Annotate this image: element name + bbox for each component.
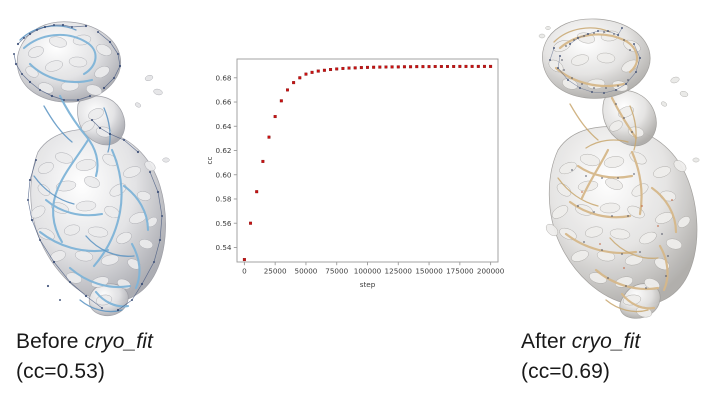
data-point [385, 66, 388, 69]
data-point [372, 66, 375, 69]
cryo-em-density-with-unfitted-model-image [0, 0, 205, 320]
before-caption-cc: (cc=0.53) [16, 357, 153, 387]
y-tick-label: 0.64 [215, 122, 231, 131]
data-point [243, 258, 246, 261]
after-caption-prefix: After [521, 330, 572, 353]
data-point [274, 115, 277, 118]
x-axis-label: step [360, 280, 376, 289]
x-tick-label: 25000 [264, 267, 287, 276]
data-point [311, 71, 314, 74]
before-caption: Before cryo_fit (cc=0.53) [16, 327, 153, 388]
data-point [348, 67, 351, 70]
before-caption-prefix: Before [16, 330, 84, 353]
data-point [422, 65, 425, 68]
y-tick-label: 0.66 [215, 98, 231, 107]
data-point [483, 65, 486, 68]
data-point [434, 65, 437, 68]
after-caption-cc: (cc=0.69) [521, 357, 640, 387]
x-tick-label: 0 [242, 267, 247, 276]
data-point [305, 73, 308, 76]
data-point [268, 136, 271, 139]
data-point [477, 65, 480, 68]
x-tick-label: 175000 [446, 267, 474, 276]
x-tick-label: 200000 [477, 267, 505, 276]
data-point [409, 65, 412, 68]
data-point [286, 89, 289, 92]
before-structure-panel [0, 0, 205, 320]
data-point [471, 65, 474, 68]
data-point [415, 65, 418, 68]
data-point [465, 65, 468, 68]
y-tick-label: 0.60 [215, 170, 231, 179]
x-tick-label: 75000 [325, 267, 348, 276]
x-tick-label: 150000 [415, 267, 443, 276]
data-point [459, 65, 462, 68]
before-caption-program-name: cryo_fit [84, 330, 153, 353]
data-point [391, 66, 394, 69]
data-point [292, 81, 295, 84]
x-tick-label: 50000 [295, 267, 318, 276]
data-point [428, 65, 431, 68]
data-point [255, 190, 258, 193]
cc-vs-step-chart: GTPase activation center 025000500007500… [203, 8, 508, 300]
after-caption-program-name: cryo_fit [572, 330, 641, 353]
y-tick-label: 0.54 [215, 243, 231, 252]
data-point [262, 160, 265, 163]
data-point [366, 66, 369, 69]
x-tick-label: 100000 [354, 267, 382, 276]
data-point [342, 67, 345, 70]
y-tick-label: 0.68 [215, 73, 231, 82]
data-point [452, 65, 455, 68]
data-point [280, 100, 283, 103]
x-tick-label: 125000 [385, 267, 413, 276]
y-tick-label: 0.56 [215, 219, 231, 228]
data-point [397, 66, 400, 69]
y-axis-label: cc [205, 157, 214, 165]
data-point [298, 76, 301, 79]
data-point [360, 66, 363, 69]
data-point [446, 65, 449, 68]
data-point [403, 65, 406, 68]
data-point [354, 67, 357, 70]
data-point [317, 70, 320, 73]
data-point [379, 66, 382, 69]
after-structure-panel [512, 0, 720, 320]
data-point [489, 65, 492, 68]
data-point [249, 222, 252, 225]
after-caption: After cryo_fit (cc=0.69) [521, 327, 640, 388]
data-point [323, 69, 326, 72]
cryo-em-density-with-fitted-model-image [512, 0, 720, 320]
y-tick-label: 0.62 [215, 146, 231, 155]
data-point [329, 68, 332, 71]
chart-plot-area: 0250005000075000100000125000150000175000… [203, 8, 508, 300]
y-tick-label: 0.58 [215, 195, 231, 204]
data-point [440, 65, 443, 68]
data-point [335, 68, 338, 71]
